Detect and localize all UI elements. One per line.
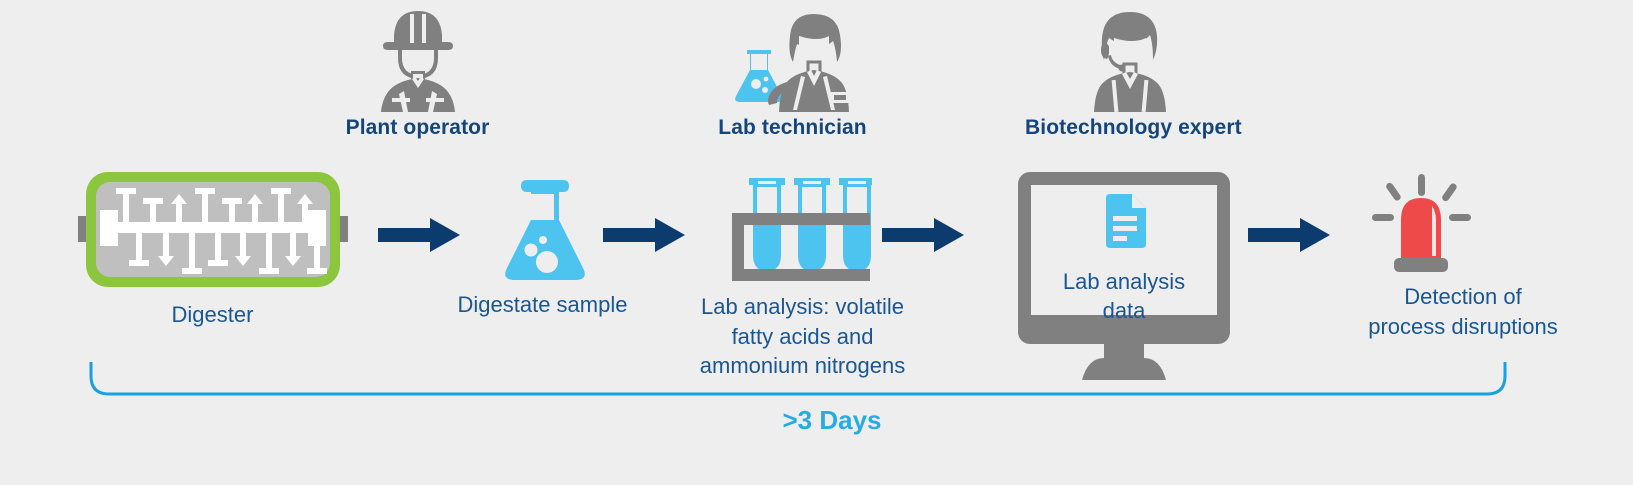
- role-label: Lab technician: [705, 116, 880, 140]
- arrow-2: [603, 218, 685, 257]
- duration-bracket: [88, 362, 1508, 410]
- role-plant-operator: Plant operator: [330, 8, 505, 140]
- step-label-digester: Digester: [105, 300, 320, 330]
- monitor-screen-text: Lab analysis data: [1024, 268, 1224, 325]
- role-label: Plant operator: [330, 116, 505, 140]
- step-label-detection: Detection of process disruptions: [1318, 282, 1608, 341]
- document-icon: [1106, 194, 1146, 248]
- arrow-3: [882, 218, 964, 257]
- process-flow-diagram: Plant operator: [0, 0, 1633, 485]
- alarm-siren-icon: [1368, 172, 1474, 283]
- digester-tank-icon: [78, 172, 348, 292]
- role-biotechnology-expert: Biotechnology expert: [1025, 8, 1235, 140]
- lab-technician-icon: [725, 8, 860, 112]
- arrow-4: [1248, 218, 1330, 257]
- step-label-digestate-sample: Digestate sample: [440, 290, 645, 320]
- hardhat-worker-icon: [372, 8, 464, 112]
- test-tube-rack-icon: [722, 168, 872, 288]
- role-lab-technician: Lab technician: [705, 8, 880, 140]
- erlenmeyer-flask-icon: [495, 178, 587, 293]
- arrow-1: [378, 218, 460, 257]
- headset-expert-icon: [1080, 8, 1180, 112]
- role-label: Biotechnology expert: [1025, 116, 1235, 140]
- duration-label: >3 Days: [712, 405, 952, 436]
